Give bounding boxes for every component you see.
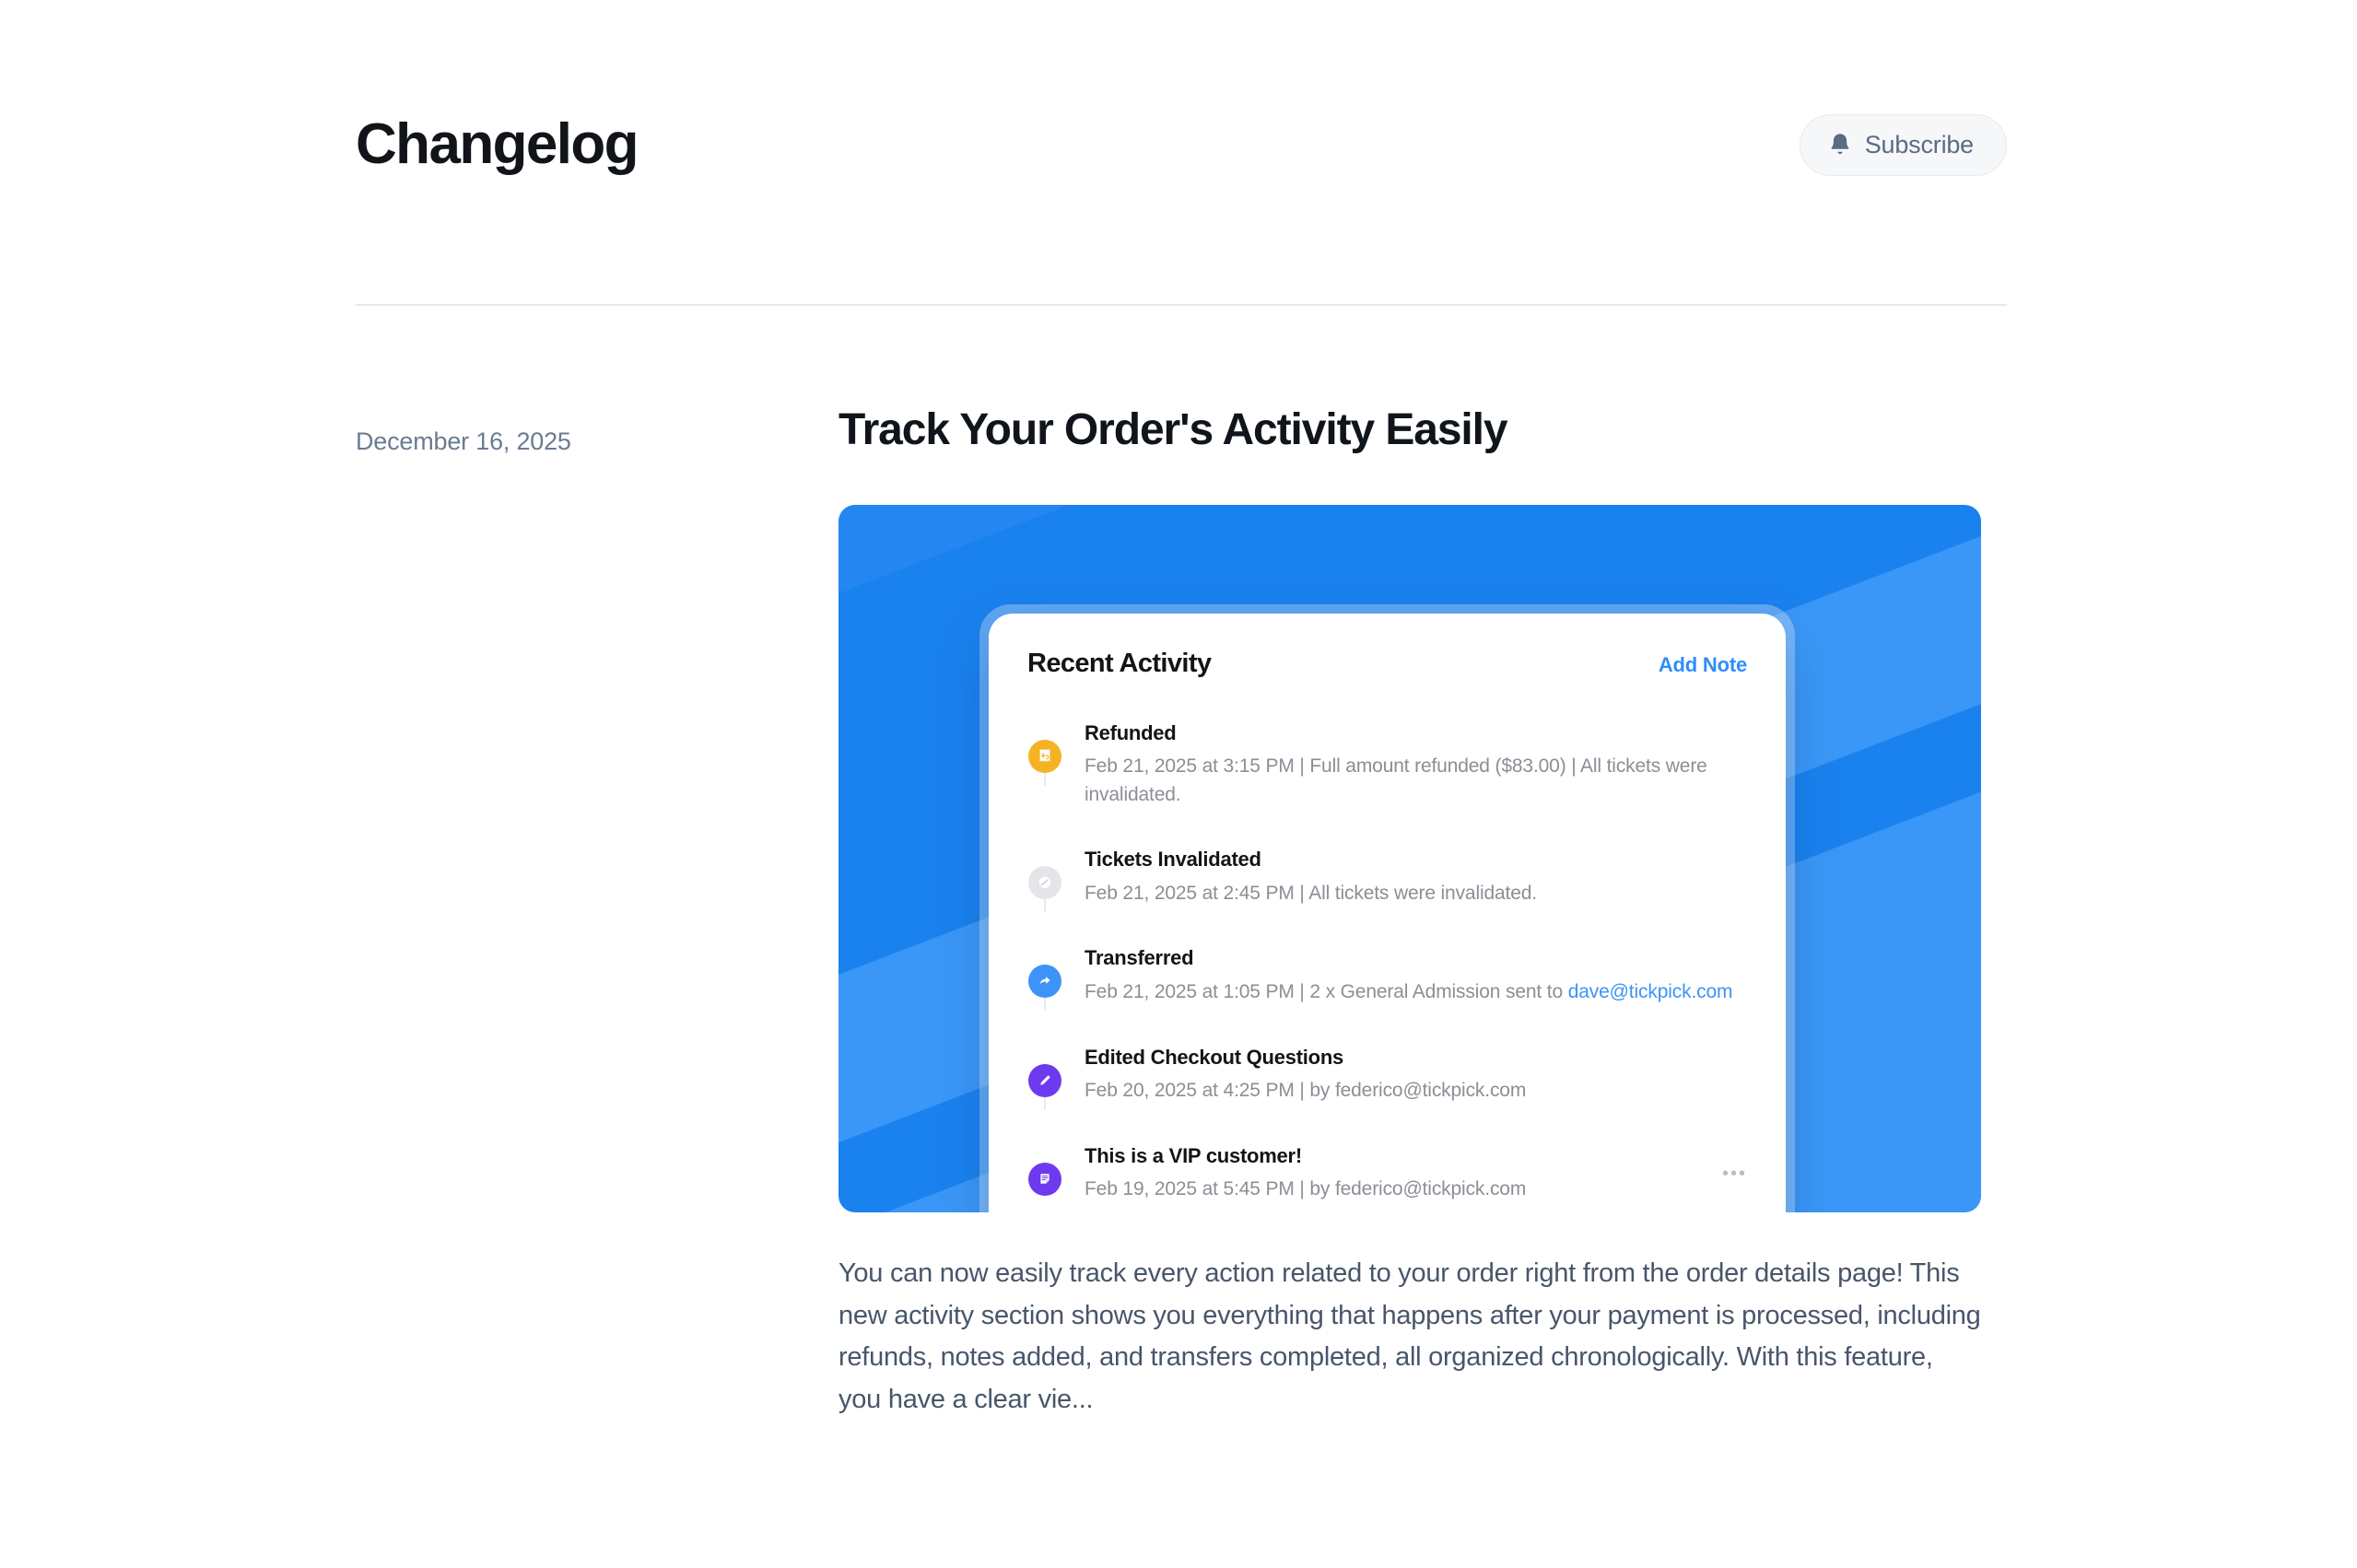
recent-activity-heading: Recent Activity — [1027, 649, 1211, 679]
activity-item-body: Tickets Invalidated Feb 21, 2025 at 2:45… — [1062, 846, 1747, 907]
activity-item: Transferred Feb 21, 2025 at 1:05 PM | 2 … — [1027, 944, 1747, 1043]
activity-item-meta: Feb 19, 2025 at 5:45 PM | by federico@ti… — [1085, 1176, 1707, 1203]
activity-item-meta: Feb 20, 2025 at 4:25 PM | by federico@ti… — [1085, 1077, 1747, 1105]
header-divider — [356, 304, 2007, 306]
activity-item: Tickets Invalidated Feb 21, 2025 at 2:45… — [1027, 846, 1747, 944]
recipient-email-link[interactable]: dave@tickpick.com — [1568, 981, 1733, 1002]
changelog-entry: December 16, 2025 Track Your Order's Act… — [356, 405, 2007, 1448]
activity-item-body: Transferred Feb 21, 2025 at 1:05 PM | 2 … — [1062, 944, 1747, 1006]
page-title: Changelog — [356, 116, 638, 173]
activity-timeline: Refunded Feb 21, 2025 at 3:15 PM | Full … — [1027, 720, 1747, 1204]
activity-item-title: Transferred — [1085, 944, 1747, 972]
activity-item-meta: Feb 21, 2025 at 1:05 PM | 2 x General Ad… — [1085, 978, 1747, 1006]
activity-item-body: Edited Checkout Questions Feb 20, 2025 a… — [1062, 1044, 1747, 1106]
activity-item-meta: Feb 21, 2025 at 3:15 PM | Full amount re… — [1085, 753, 1747, 809]
activity-item-title: Edited Checkout Questions — [1085, 1044, 1747, 1071]
activity-item-title: Tickets Invalidated — [1085, 846, 1747, 873]
entry-hero-image: Recent Activity Add Note — [838, 505, 1981, 1212]
recent-activity-header: Recent Activity Add Note — [1027, 649, 1747, 679]
add-note-link[interactable]: Add Note — [1659, 653, 1747, 677]
activity-item: Refunded Feb 21, 2025 at 3:15 PM | Full … — [1027, 720, 1747, 847]
activity-item: This is a VIP customer! Feb 19, 2025 at … — [1027, 1142, 1747, 1204]
entry-body-text: You can now easily track every action re… — [838, 1253, 1981, 1422]
subscribe-label: Subscribe — [1865, 131, 1974, 159]
entry-date-column: December 16, 2025 — [356, 405, 838, 458]
timeline-rail — [1027, 846, 1062, 899]
activity-item: Edited Checkout Questions Feb 20, 2025 a… — [1027, 1044, 1747, 1142]
changelog-page: Changelog Subscribe December 16, 2025 Tr… — [0, 0, 2357, 1568]
timeline-rail — [1027, 944, 1062, 998]
activity-item-body: This is a VIP customer! Feb 19, 2025 at … — [1062, 1142, 1707, 1204]
entry-date: December 16, 2025 — [356, 426, 838, 458]
entry-title: Track Your Order's Activity Easily — [838, 405, 2007, 455]
timeline-rail — [1027, 720, 1062, 773]
forward-arrow-icon — [1028, 965, 1061, 998]
pencil-icon — [1028, 1064, 1061, 1097]
entry-main: Track Your Order's Activity Easily Recen… — [838, 405, 2007, 1448]
timeline-rail — [1027, 1044, 1062, 1097]
activity-item-title: This is a VIP customer! — [1085, 1142, 1707, 1170]
timeline-connector — [1044, 1097, 1046, 1110]
activity-item-body: Refunded Feb 21, 2025 at 3:15 PM | Full … — [1062, 720, 1747, 810]
bell-icon — [1828, 132, 1852, 158]
activity-item-more-menu[interactable]: ••• — [1707, 1142, 1747, 1183]
timeline-connector — [1044, 899, 1046, 912]
activity-item-meta-text: Feb 21, 2025 at 1:05 PM | 2 x General Ad… — [1085, 981, 1568, 1002]
timeline-rail — [1027, 1142, 1062, 1196]
subscribe-button[interactable]: Subscribe — [1800, 114, 2007, 176]
timeline-connector — [1044, 998, 1046, 1011]
activity-item-meta: Feb 21, 2025 at 2:45 PM | All tickets we… — [1085, 880, 1747, 907]
note-icon — [1028, 1163, 1061, 1196]
receipt-return-icon — [1028, 740, 1061, 773]
recent-activity-card: Recent Activity Add Note — [989, 614, 1786, 1212]
activity-item-title: Refunded — [1085, 720, 1747, 747]
timeline-connector — [1044, 773, 1046, 786]
ban-icon — [1028, 866, 1061, 899]
site-header: Changelog Subscribe — [356, 85, 2007, 205]
